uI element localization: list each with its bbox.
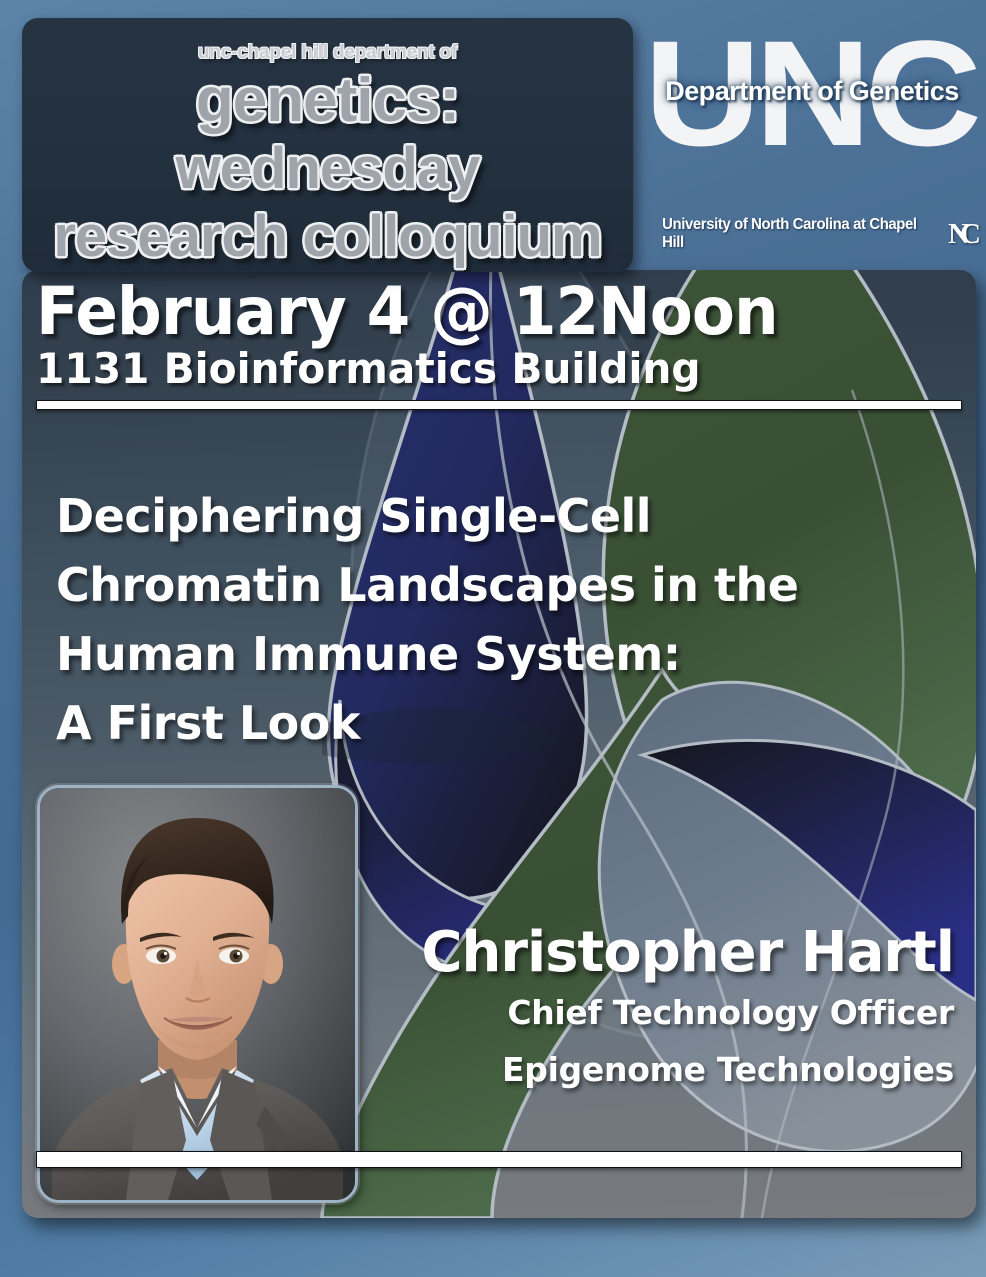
unc-university-row: University of North Carolina at Chapel H…: [652, 216, 972, 252]
divider-bottom: [36, 1151, 962, 1168]
series-title-line-3: research colloquium: [22, 203, 633, 270]
series-title-line-1: genetics:: [22, 65, 633, 136]
unc-university-label: University of North Carolina at Chapel H…: [662, 216, 931, 252]
talk-title-line-2: Chromatin Landscapes in the: [56, 551, 956, 620]
headshot-illustration: [40, 788, 355, 1200]
event-datetime-block: February 4 @ 12Noon 1131 Bioinformatics …: [22, 270, 976, 410]
talk-title-line-4: A First Look: [56, 689, 956, 758]
event-date-time: February 4 @ 12Noon: [36, 278, 916, 345]
speaker-affiliation: Epigenome Technologies: [421, 1041, 954, 1099]
talk-title: Deciphering Single-Cell Chromatin Landsc…: [56, 482, 956, 758]
talk-title-line-3: Human Immune System:: [56, 620, 956, 689]
speaker-name: Christopher Hartl: [421, 922, 954, 984]
speaker-info-block: Christopher Hartl Chief Technology Offic…: [421, 922, 954, 1099]
series-title-line-2: wednesday: [22, 135, 633, 202]
divider-top: [36, 400, 962, 410]
unc-department-label: Department of Genetics: [652, 76, 972, 107]
event-location: 1131 Bioinformatics Building: [36, 347, 934, 391]
speaker-headshot: [37, 785, 358, 1203]
poster-main-panel: February 4 @ 12Noon 1131 Bioinformatics …: [22, 270, 976, 1218]
speaker-role: Chief Technology Officer: [421, 984, 954, 1042]
series-header-box: unc-chapel hill department of genetics: …: [22, 18, 633, 272]
talk-title-line-1: Deciphering Single-Cell: [56, 482, 956, 551]
seminar-poster: unc-chapel hill department of genetics: …: [0, 0, 986, 1277]
unc-logo: UNC Department of Genetics University of…: [652, 24, 972, 254]
header-kicker: unc-chapel hill department of: [22, 42, 633, 64]
nc-interlock-icon: NC: [948, 221, 972, 247]
